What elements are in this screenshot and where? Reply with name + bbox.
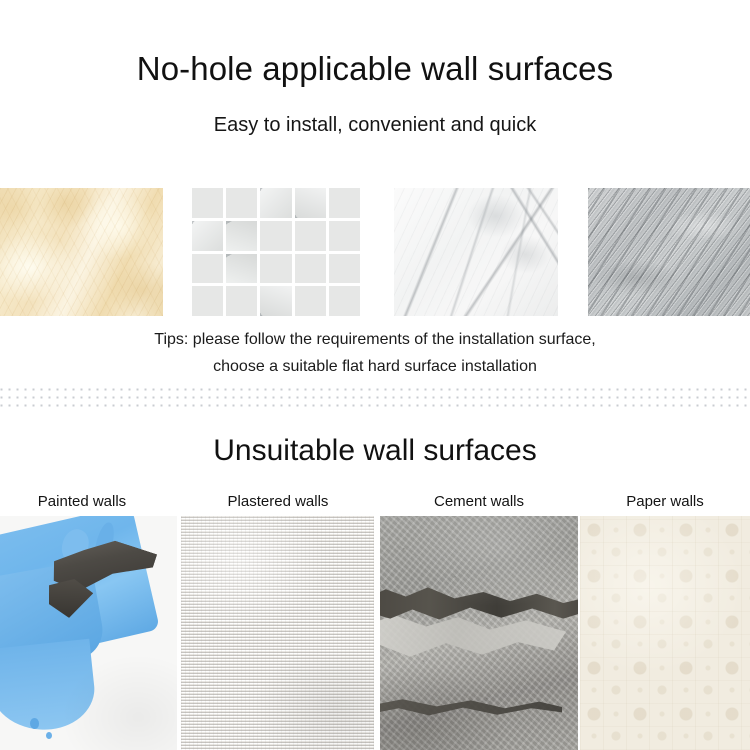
- mosaic-tile: [192, 254, 223, 284]
- mosaic-tile: [295, 254, 326, 284]
- mosaic-tile: [329, 221, 360, 251]
- mosaic-tile: [260, 254, 291, 284]
- paint-stroke: [0, 516, 160, 672]
- tips-line-1: Tips: please follow the requirements of …: [0, 326, 750, 353]
- cement-crack: [380, 580, 578, 626]
- mosaic-grid-swatch-icon: [192, 188, 360, 316]
- cracked-cement-photo-icon: [380, 516, 578, 750]
- ribbed-plaster-photo-icon: [181, 516, 374, 750]
- brush-handle: [47, 525, 157, 614]
- dotted-divider: [0, 388, 750, 412]
- mosaic-tile: [329, 188, 360, 218]
- paint-spatter: [91, 521, 118, 570]
- gray-slate-swatch-icon: [588, 188, 750, 316]
- mosaic-tile: [226, 254, 257, 284]
- white-marble-swatch-icon: [394, 188, 558, 316]
- brush-tip: [40, 571, 95, 623]
- unsuitable-surface-gallery: [0, 516, 750, 750]
- paint-spatter: [56, 525, 94, 567]
- mosaic-tile: [329, 254, 360, 284]
- installation-tips: Tips: please follow the requirements of …: [0, 326, 750, 380]
- label-cement-walls: Cement walls: [380, 492, 578, 512]
- label-plastered-walls: Plastered walls: [181, 492, 375, 512]
- mosaic-tile: [192, 221, 223, 251]
- label-paper-walls: Paper walls: [580, 492, 750, 512]
- paint-stroke-secondary: [0, 560, 107, 681]
- label-painted-walls: Painted walls: [0, 492, 164, 512]
- page-title: No-hole applicable wall surfaces: [0, 50, 750, 88]
- paint-droplet: [30, 718, 39, 729]
- mosaic-tile: [260, 221, 291, 251]
- mosaic-tile: [226, 286, 257, 316]
- mosaic-tile: [295, 188, 326, 218]
- mosaic-tile: [260, 188, 291, 218]
- mosaic-tile: [295, 286, 326, 316]
- mosaic-tile: [226, 221, 257, 251]
- mosaic-tile: [226, 188, 257, 218]
- unsuitable-labels: Painted walls Plastered walls Cement wal…: [0, 492, 750, 514]
- mosaic-tile: [295, 221, 326, 251]
- mosaic-tile: [329, 286, 360, 316]
- section-title-unsuitable: Unsuitable wall surfaces: [0, 433, 750, 469]
- damask-wallpaper-photo-icon: [580, 516, 750, 750]
- mosaic-tile: [192, 286, 223, 316]
- paint-drip: [0, 639, 98, 735]
- blue-paint-brush-photo-icon: [0, 516, 177, 750]
- tips-line-2: choose a suitable flat hard surface inst…: [0, 353, 750, 380]
- cement-crack-secondary: [380, 692, 562, 722]
- product-infographic: No-hole applicable wall surfaces Easy to…: [0, 0, 750, 750]
- page-subtitle: Easy to install, convenient and quick: [0, 113, 750, 137]
- mosaic-tile: [192, 188, 223, 218]
- cement-spall: [380, 612, 566, 664]
- suitable-surface-gallery: [0, 188, 750, 316]
- beige-marble-swatch-icon: [0, 188, 163, 316]
- mosaic-tile: [260, 286, 291, 316]
- paint-droplet: [46, 732, 52, 739]
